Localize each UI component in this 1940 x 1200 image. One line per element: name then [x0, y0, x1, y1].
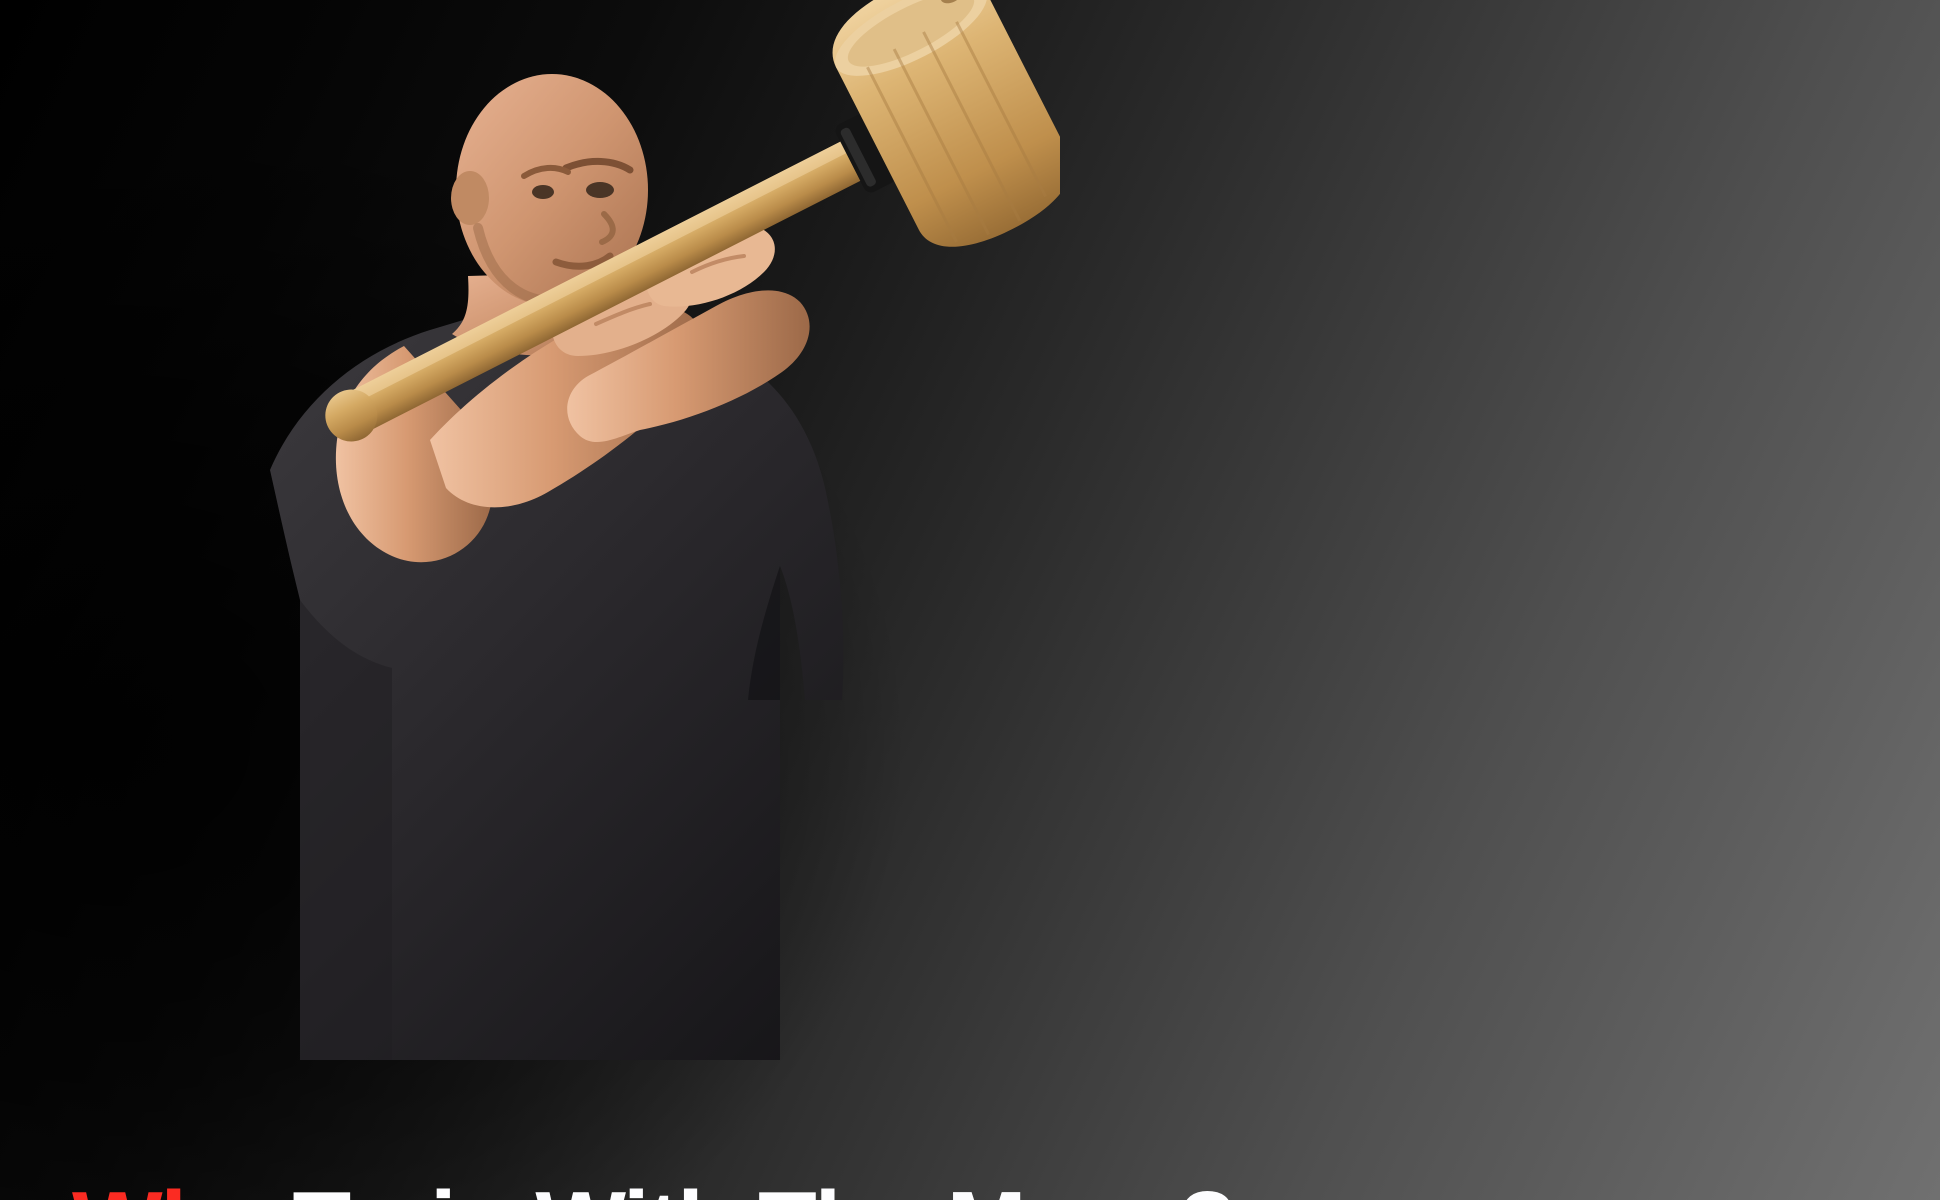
headline-accent-word: Why — [72, 1172, 268, 1200]
headline-rest: Train With The Mace? — [293, 1172, 1235, 1200]
page-title: Why Train With The Mace? — [72, 1176, 1940, 1200]
athlete-photo — [0, 0, 1060, 1060]
poster: Why Train With The Mace? Fun full body w… — [0, 0, 1940, 1200]
